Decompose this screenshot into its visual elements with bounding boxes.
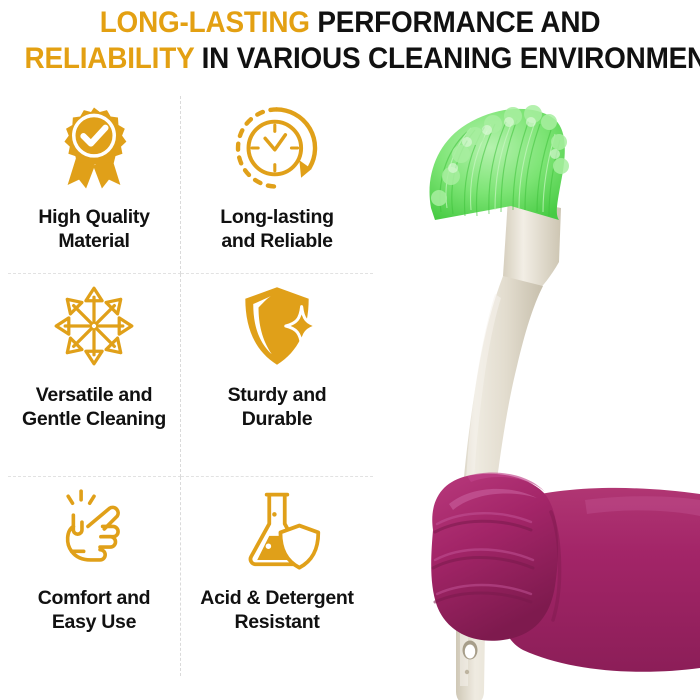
- award-ribbon-icon: [50, 102, 138, 194]
- feature-item-sturdy-durable: Sturdy and Durable: [181, 274, 373, 477]
- feature-item-long-lasting-reliable: Long-lasting and Reliable: [181, 96, 373, 274]
- flask-shield-icon: [233, 483, 321, 575]
- feature-label: Sturdy and Durable: [228, 384, 327, 432]
- feature-label: Long-lasting and Reliable: [220, 206, 333, 254]
- feature-item-acid-detergent-resistant: Acid & Detergent Resistant: [181, 477, 373, 676]
- headline-rest-1: PERFORMANCE AND: [310, 6, 600, 39]
- brush-head-bristles: [430, 105, 570, 220]
- headline-accent-reliability: RELIABILITY: [25, 42, 195, 75]
- headline-line-1: LONG-LASTING PERFORMANCE AND: [25, 8, 676, 44]
- feature-grid: High Quality Material Long-l: [8, 96, 373, 676]
- feature-item-versatile-gentle-cleaning: Versatile and Gentle Cleaning: [8, 274, 181, 477]
- headline: LONG-LASTING PERFORMANCE AND RELIABILITY…: [0, 8, 700, 74]
- feature-label: Acid & Detergent Resistant: [200, 587, 353, 635]
- feature-item-comfort-easy-use: Comfort and Easy Use: [8, 477, 181, 676]
- headline-line-2: RELIABILITY IN VARIOUS CLEANING ENVIRONM…: [25, 44, 676, 74]
- hand-snap-icon: [51, 483, 137, 575]
- product-image-scrub-brush-in-gloved-hand: [375, 80, 700, 700]
- headline-accent-long-lasting: LONG-LASTING: [100, 6, 310, 39]
- feature-label: Comfort and Easy Use: [38, 587, 151, 635]
- clock-refresh-icon: [231, 102, 323, 194]
- shield-sparkle-icon: [233, 280, 321, 372]
- multi-arrow-burst-icon: [49, 280, 139, 372]
- headline-rest-2: IN VARIOUS CLEANING ENVIRONMENTS: [194, 42, 700, 75]
- feature-item-high-quality-material: High Quality Material: [8, 96, 181, 274]
- feature-label: Versatile and Gentle Cleaning: [22, 384, 166, 432]
- feature-label: High Quality Material: [38, 206, 149, 254]
